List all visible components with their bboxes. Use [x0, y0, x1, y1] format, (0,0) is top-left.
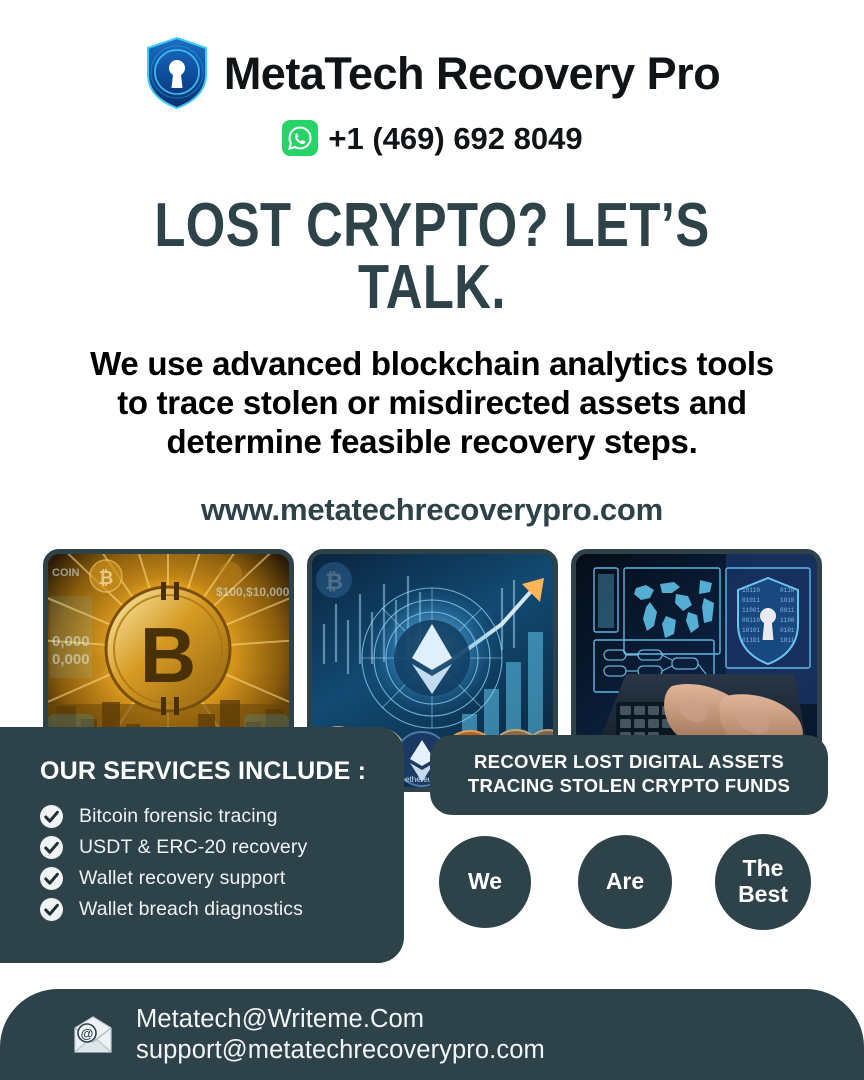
list-item: Wallet recovery support: [40, 867, 404, 890]
svg-text:0101: 0101: [780, 627, 795, 634]
services-list: Bitcoin forensic tracing USDT & ERC-20 r…: [40, 805, 404, 921]
services-panel: OUR SERVICES INCLUDE : Bitcoin forensic …: [0, 727, 404, 963]
shield-keyhole-icon: [144, 36, 210, 110]
svg-text:₿: ₿: [325, 569, 343, 594]
svg-text:10110: 10110: [742, 587, 760, 594]
service-label: Wallet breach diagnostics: [79, 898, 303, 921]
subhead-line-2: to trace stolen or misdirected assets an…: [52, 384, 812, 423]
svg-text:1010: 1010: [780, 597, 795, 604]
subhead-line-1: We use advanced blockchain analytics too…: [52, 345, 812, 384]
recover-banner: RECOVER LOST DIGITAL ASSETS TRACING STOL…: [430, 735, 828, 815]
check-circle-icon: [40, 836, 63, 859]
middle-section: OUR SERVICES INCLUDE : Bitcoin forensic …: [0, 727, 864, 967]
svg-text:0,000: 0,000: [52, 651, 90, 668]
list-item: Wallet breach diagnostics: [40, 898, 404, 921]
envelope-at-icon: @: [72, 1016, 114, 1054]
svg-text:₿: ₿: [98, 568, 113, 588]
email-primary[interactable]: Metatech@Writeme.Com: [136, 1004, 545, 1034]
page-title: LOST CRYPTO? LET’S TALK.: [78, 195, 786, 319]
svg-text:COIN: COIN: [52, 567, 80, 579]
service-label: USDT & ERC-20 recovery: [79, 836, 307, 859]
svg-text:0,000: 0,000: [52, 633, 90, 650]
check-circle-icon: [40, 898, 63, 921]
svg-text:0011: 0011: [780, 607, 795, 614]
svg-text:0110: 0110: [780, 587, 795, 594]
badge-the-best-line-1: The: [738, 856, 788, 882]
badge-are-label: Are: [606, 869, 644, 895]
badge-group: We Are The Best: [430, 827, 830, 937]
flyer-canvas: MetaTech Recovery Pro +1 (469) 692 8049 …: [0, 0, 864, 1080]
badge-the-best: The Best: [715, 834, 811, 930]
service-label: Bitcoin forensic tracing: [79, 805, 278, 828]
svg-text:@: @: [81, 1026, 94, 1041]
svg-text:01101: 01101: [742, 637, 760, 644]
phone-number[interactable]: +1 (469) 692 8049: [328, 123, 582, 154]
check-circle-icon: [40, 867, 63, 890]
svg-text:B: B: [139, 611, 195, 699]
header: MetaTech Recovery Pro +1 (469) 692 8049: [0, 0, 864, 157]
list-item: Bitcoin forensic tracing: [40, 805, 404, 828]
svg-text:11001: 11001: [742, 607, 760, 614]
badge-the-best-line-2: Best: [738, 882, 788, 908]
badge-we: We: [439, 836, 531, 928]
email-list[interactable]: Metatech@Writeme.Com support@metatechrec…: [136, 1004, 545, 1064]
hero-subhead: We use advanced blockchain analytics too…: [52, 345, 812, 462]
badge-are: Are: [578, 835, 672, 929]
svg-text:00110: 00110: [742, 617, 760, 624]
check-circle-icon: [40, 805, 63, 828]
recover-banner-line-1: RECOVER LOST DIGITAL ASSETS: [440, 750, 818, 774]
brand-name: MetaTech Recovery Pro: [224, 51, 720, 96]
recover-banner-line-2: TRACING STOLEN CRYPTO FUNDS: [440, 774, 818, 798]
brand-row: MetaTech Recovery Pro: [144, 36, 720, 110]
email-support[interactable]: support@metatechrecoverypro.com: [136, 1035, 545, 1065]
subhead-line-3: determine feasible recovery steps.: [52, 423, 812, 462]
phone-row[interactable]: +1 (469) 692 8049: [281, 119, 582, 157]
svg-text:01011: 01011: [742, 597, 760, 604]
svg-text:1100: 1100: [780, 617, 795, 624]
list-item: USDT & ERC-20 recovery: [40, 836, 404, 859]
whatsapp-icon[interactable]: [281, 119, 319, 157]
footer-contact-bar: @ Metatech@Writeme.Com support@metatechr…: [0, 989, 864, 1080]
service-label: Wallet recovery support: [79, 867, 285, 890]
services-title: OUR SERVICES INCLUDE :: [40, 757, 404, 786]
svg-text:1011: 1011: [780, 637, 795, 644]
svg-text:10101: 10101: [742, 627, 760, 634]
svg-text:$100,$10,000: $100,$10,000: [216, 585, 289, 599]
badge-we-label: We: [468, 869, 502, 895]
website-url[interactable]: www.metatechrecoverypro.com: [0, 492, 864, 528]
